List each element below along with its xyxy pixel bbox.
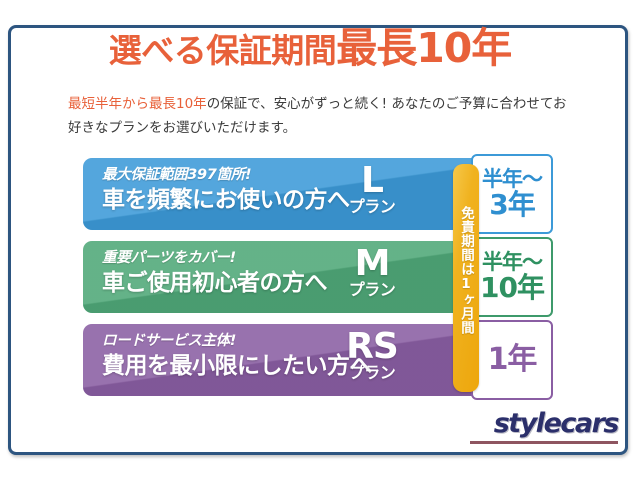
- duration-l-line1: 半年～: [482, 168, 542, 191]
- plan-m-tagline: 重要パーツをカバー!: [102, 250, 327, 267]
- plan-m-target: 車ご使用初心者の方へ: [102, 270, 327, 298]
- duration-card-m: 半年～ 10年: [471, 237, 553, 317]
- plan-l-word: プラン: [327, 199, 417, 216]
- duration-m-line2: 10年: [480, 273, 544, 303]
- plan-rs-badge: RS プラン: [327, 328, 417, 382]
- plan-m-badge: M プラン: [327, 245, 417, 299]
- exemption-period-label-wrap: 免責期間は1ヶ月間: [453, 206, 479, 386]
- subtitle-highlight: 最短半年から最長10年: [68, 96, 207, 112]
- plan-m-letter: M: [327, 245, 417, 283]
- duration-card-l: 半年～ 3年: [471, 154, 553, 234]
- duration-l-line2: 3年: [489, 190, 534, 220]
- exemption-period-label: 免責期間は1ヶ月間: [456, 206, 476, 335]
- headline-prefix: 選べる保証期間: [109, 31, 337, 70]
- plan-l-texts: 最大保証範囲397箇所! 車を頻繁にお使いの方へ: [102, 167, 350, 215]
- warranty-plan-poster: 選べる保証期間最長10年 最短半年から最長10年の保証で、安心がずっと続く! あ…: [0, 0, 640, 480]
- plan-rs-letter: RS: [327, 328, 417, 366]
- plan-rs-word: プラン: [327, 365, 417, 382]
- plan-l-target: 車を頻繁にお使いの方へ: [102, 187, 350, 215]
- duration-m-line1: 半年～: [482, 251, 542, 274]
- plan-m-word: プラン: [327, 282, 417, 299]
- subtitle-paragraph: 最短半年から最長10年の保証で、安心がずっと続く! あなたのご予算に合わせてお好…: [68, 93, 568, 140]
- headline-emphasis: 最長10年: [336, 24, 511, 72]
- brand-logo-underline: [470, 441, 618, 444]
- brand-logo-text: stylecars: [468, 408, 618, 439]
- plan-l-badge: L プラン: [327, 162, 417, 216]
- page-title: 選べる保証期間最長10年: [0, 28, 620, 69]
- duration-card-rs: 1年: [471, 320, 553, 400]
- duration-rs-value: 1年: [488, 344, 537, 376]
- plan-m-texts: 重要パーツをカバー! 車ご使用初心者の方へ: [102, 250, 327, 298]
- plan-l-tagline: 最大保証範囲397箇所!: [102, 167, 350, 184]
- brand-logo: stylecars: [468, 408, 618, 450]
- plan-l-letter: L: [327, 162, 417, 200]
